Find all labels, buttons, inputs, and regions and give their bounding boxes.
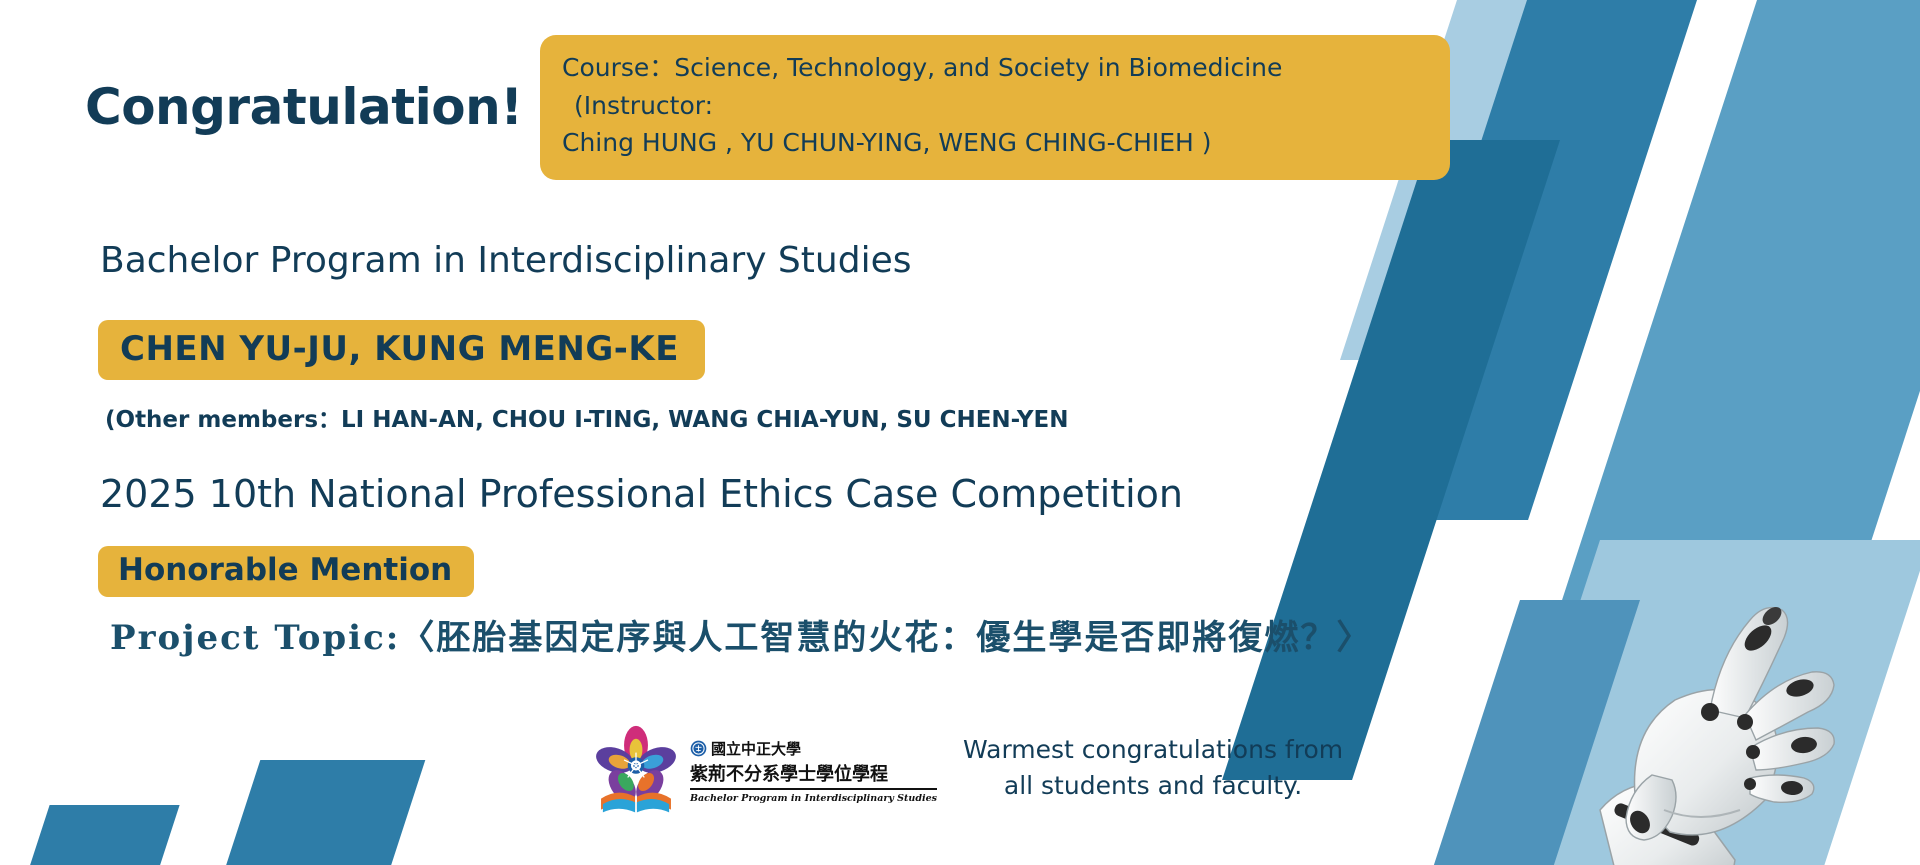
program-name: Bachelor Program in Interdisciplinary St… <box>100 240 911 281</box>
closing-message: Warmest congratulations from all student… <box>963 732 1343 811</box>
footer-block: 國立中正大學 紫荊不分系學士學位學程 Bachelor Program in I… <box>590 725 1343 817</box>
instructor-label-line: (Instructor: <box>562 87 1428 125</box>
program-name-cn: 紫荊不分系學士學位學程 <box>690 760 937 790</box>
university-seal-icon <box>690 740 707 757</box>
other-members-line: (Other members：LI HAN-AN, CHOU I-TING, W… <box>105 400 1068 434</box>
university-name-cn-row: 國立中正大學 <box>690 738 937 759</box>
closing-message-line1: Warmest congratulations from <box>963 732 1343 768</box>
robot-hand-illustration <box>1560 560 1890 865</box>
ribbon-shape <box>1530 0 1700 300</box>
banner-content: Congratulation! Course：Science, Technolo… <box>0 0 1480 865</box>
university-name-cn: 國立中正大學 <box>711 738 801 759</box>
course-name-line: Course：Science, Technology, and Society … <box>562 49 1428 87</box>
logo-text-block: 國立中正大學 紫荊不分系學士學位學程 Bachelor Program in I… <box>690 738 937 804</box>
page-title: Congratulation! <box>85 78 523 136</box>
congratulation-banner: Congratulation! Course：Science, Technolo… <box>0 0 1920 865</box>
award-badge: Honorable Mention <box>98 546 474 597</box>
flower-emblem-icon <box>590 725 682 817</box>
competition-title: 2025 10th National Professional Ethics C… <box>100 472 1183 516</box>
winners-badge: CHEN YU-JU, KUNG MENG-KE <box>98 320 705 380</box>
closing-message-line2: all students and faculty. <box>963 768 1343 804</box>
university-logo: 國立中正大學 紫荊不分系學士學位學程 Bachelor Program in I… <box>590 725 937 817</box>
winners-names: CHEN YU-JU, KUNG MENG-KE <box>120 329 679 369</box>
award-label: Honorable Mention <box>118 552 452 588</box>
project-topic: Project Topic:〈胚胎基因定序與人工智慧的火花：優生學是否即將復燃？… <box>110 612 1400 665</box>
instructor-names-line: Ching HUNG , YU CHUN-YING, WENG CHING-CH… <box>562 124 1428 162</box>
course-info-box: Course：Science, Technology, and Society … <box>540 35 1450 180</box>
program-name-en: Bachelor Program in Interdisciplinary St… <box>690 791 937 804</box>
